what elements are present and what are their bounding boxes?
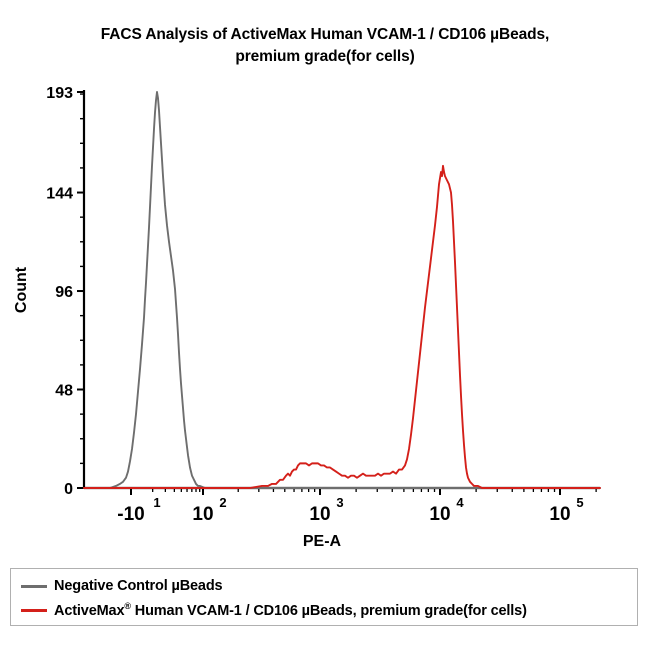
x-tick-exponent: 3 (336, 495, 343, 510)
y-tick-label: 48 (55, 383, 73, 400)
x-tick-base: 10 (192, 504, 213, 525)
y-tick-label: 96 (55, 284, 73, 301)
series-line-negative-control (84, 92, 600, 488)
x-tick-label: 105 (549, 495, 583, 525)
x-tick-exponent: 1 (153, 495, 160, 510)
legend-item-label: ActiveMax® Human VCAM-1 / CD106 µBeads, … (54, 601, 527, 619)
legend-item-label: Negative Control µBeads (54, 578, 222, 594)
x-tick-exponent: 2 (219, 495, 226, 510)
y-tick-label: 144 (46, 186, 73, 203)
x-tick-label: 104 (429, 495, 464, 525)
legend-color-swatch (21, 585, 47, 588)
y-axis-title: Count (13, 266, 30, 313)
legend-color-swatch (21, 609, 47, 612)
x-tick-label: 102 (192, 495, 226, 525)
x-axis-title: PE-A (303, 533, 342, 550)
facs-histogram-figure: FACS Analysis of ActiveMax Human VCAM-1 … (0, 0, 650, 650)
x-tick-base: 10 (549, 504, 570, 525)
x-tick-exponent: 4 (456, 495, 464, 510)
x-tick-exponent: 5 (576, 495, 583, 510)
x-tick-label: 103 (309, 495, 343, 525)
x-tick-base: 10 (309, 504, 330, 525)
series-line-sample (84, 166, 600, 488)
legend-item-negative-control[interactable]: Negative Control µBeads (11, 574, 637, 598)
legend-item-sample[interactable]: ActiveMax® Human VCAM-1 / CD106 µBeads, … (11, 598, 637, 622)
plot-area: 04896144193Count-101102103104105PE-A (0, 0, 650, 560)
x-tick-base: 10 (429, 504, 450, 525)
y-tick-label: 193 (46, 85, 73, 102)
registered-trademark-icon: ® (124, 601, 130, 611)
y-tick-label: 0 (64, 481, 73, 498)
x-tick-label: -101 (117, 495, 160, 525)
chart-legend: Negative Control µBeadsActiveMax® Human … (10, 568, 638, 626)
x-tick-base: -10 (117, 504, 144, 525)
